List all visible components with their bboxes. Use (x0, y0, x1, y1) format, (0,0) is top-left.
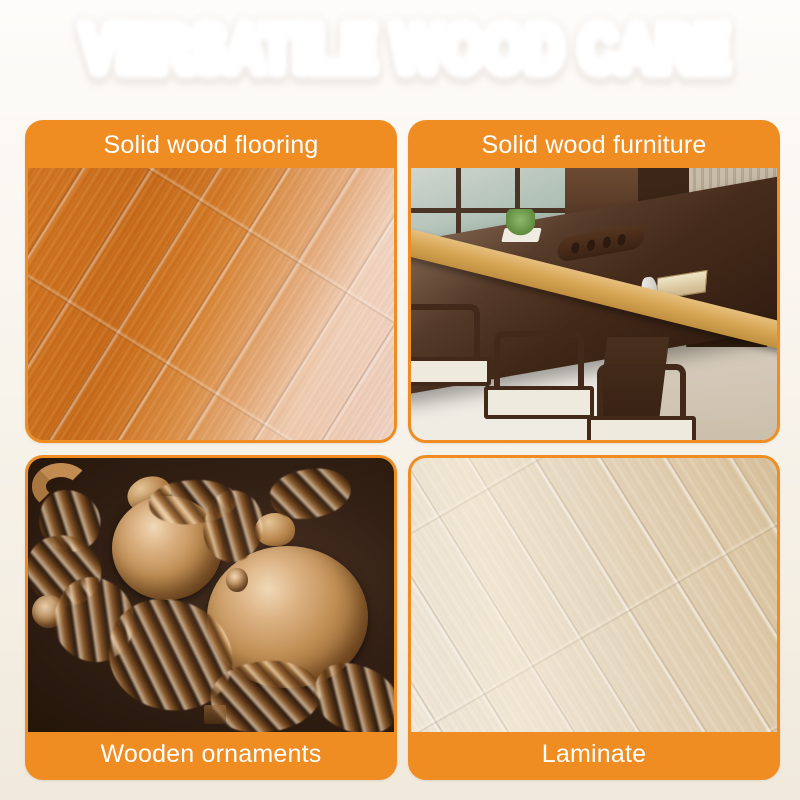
panel-solid-wood-furniture[interactable]: Solid wood furniture (408, 120, 780, 443)
window-mullion-horizontal (411, 208, 579, 213)
chair-seat (411, 357, 491, 387)
chair (587, 364, 711, 440)
panel-image-solid-wood-furniture (411, 168, 777, 440)
panel-image-laminate (411, 458, 777, 732)
carving-maker-stamp (204, 705, 226, 724)
panel-laminate[interactable]: Laminate (408, 455, 780, 780)
tea-cup (603, 236, 612, 248)
tea-cup (618, 233, 627, 245)
laminate-gloss-highlight (411, 458, 777, 732)
panel-wooden-ornaments[interactable]: Wooden ornaments (25, 455, 397, 780)
chair-back (597, 364, 687, 423)
panel-label-solid-wood-flooring: Solid wood flooring (28, 123, 394, 168)
tea-room-scene (411, 168, 777, 440)
panel-label-solid-wood-furniture: Solid wood furniture (411, 123, 777, 168)
panel-solid-wood-flooring[interactable]: Solid wood flooring (25, 120, 397, 443)
chair-seat (587, 416, 697, 440)
carved-small-gourd (226, 568, 248, 593)
promo-banner: VERSATILE WOOD CARE Solid wood flooring … (0, 0, 800, 800)
banner-title-wrap: VERSATILE WOOD CARE (0, 14, 800, 94)
carved-gourd-sculpture (28, 458, 394, 732)
tea-cup (572, 242, 581, 254)
chair-back (494, 331, 584, 394)
tea-cup (587, 239, 596, 251)
page-title: VERSATILE WOOD CARE (81, 14, 730, 82)
panel-label-laminate: Laminate (411, 732, 777, 777)
chair-seat (484, 386, 594, 419)
panel-grid: Solid wood flooring Solid wood furniture (25, 120, 775, 780)
panel-image-wooden-ornaments (28, 458, 394, 732)
panel-label-wooden-ornaments: Wooden ornaments (28, 732, 394, 777)
hardwood-gloss-highlight (28, 168, 394, 440)
panel-image-solid-wood-flooring (28, 168, 394, 440)
chair-back (411, 304, 480, 363)
potted-plant (506, 209, 535, 236)
